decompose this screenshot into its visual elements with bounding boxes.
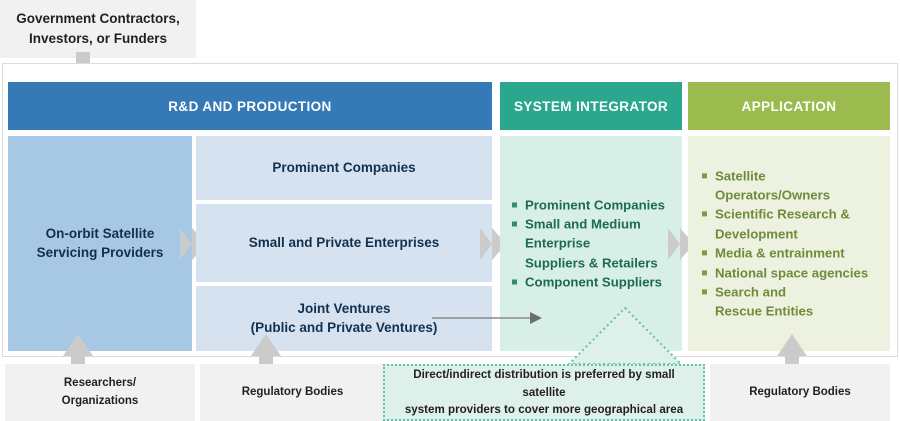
researchers-line1: Researchers/ (62, 375, 139, 392)
cell-on-orbit-satellite-servicing-providers: On-orbit Satellite Servicing Providers (8, 136, 192, 351)
si-item-0: Prominent Companies (512, 195, 680, 214)
app-item-1: Operators/Owners (702, 185, 888, 204)
cell-prominent-companies: Prominent Companies (196, 136, 492, 200)
diagram-canvas: Government Contractors, Investors, or Fu… (0, 0, 900, 421)
on-orbit-line1: On-orbit Satellite (37, 225, 164, 244)
app-item-5: National space agencies (702, 263, 888, 282)
header-rd-and-production: R&D AND PRODUCTION (8, 82, 492, 130)
bottom-box-regulatory-bodies-left: Regulatory Bodies (200, 364, 385, 421)
si-item-4: Component Suppliers (512, 273, 680, 292)
government-contractors-box: Government Contractors, Investors, or Fu… (0, 0, 196, 58)
si-item-1: Small and Medium (512, 214, 680, 233)
app-item-0: Satellite (702, 166, 888, 185)
callout-tail-icon (565, 306, 685, 371)
cell-application: Satellite Operators/Owners Scientific Re… (688, 136, 890, 351)
header-system-integrator: SYSTEM INTEGRATOR (500, 82, 682, 130)
callout-text-box: Direct/indirect distribution is preferre… (383, 364, 705, 421)
application-list: Satellite Operators/Owners Scientific Re… (702, 166, 888, 321)
app-item-7: Rescue Entities (702, 302, 888, 321)
bottom-box-researchers-organizations: Researchers/ Organizations (5, 364, 195, 421)
government-contractors-line1: Government Contractors, (16, 9, 180, 29)
callout-line1: Direct/indirect distribution is preferre… (395, 366, 693, 402)
app-item-4: Media & entrainment (702, 244, 888, 263)
on-orbit-label: On-orbit Satellite Servicing Providers (37, 225, 164, 263)
system-integrator-list: Prominent Companies Small and Medium Ent… (512, 195, 680, 292)
on-orbit-line2: Servicing Providers (37, 244, 164, 263)
app-item-6: Search and (702, 282, 888, 301)
header-application: APPLICATION (688, 82, 890, 130)
si-item-3: Suppliers & Retailers (512, 253, 680, 272)
researchers-line2: Organizations (62, 393, 139, 410)
government-contractors-label: Government Contractors, Investors, or Fu… (16, 9, 180, 48)
researchers-label: Researchers/ Organizations (62, 375, 139, 410)
distribution-callout: Direct/indirect distribution is preferre… (383, 306, 705, 421)
government-contractors-line2: Investors, or Funders (16, 29, 180, 49)
app-item-3: Development (702, 224, 888, 243)
cell-small-and-private-enterprises: Small and Private Enterprises (196, 204, 492, 282)
si-item-2: Enterprise (512, 234, 680, 253)
callout-label: Direct/indirect distribution is preferre… (395, 366, 693, 420)
app-item-2: Scientific Research & (702, 205, 888, 224)
bottom-box-regulatory-bodies-right: Regulatory Bodies (710, 364, 890, 421)
callout-line2: system providers to cover more geographi… (395, 401, 693, 419)
